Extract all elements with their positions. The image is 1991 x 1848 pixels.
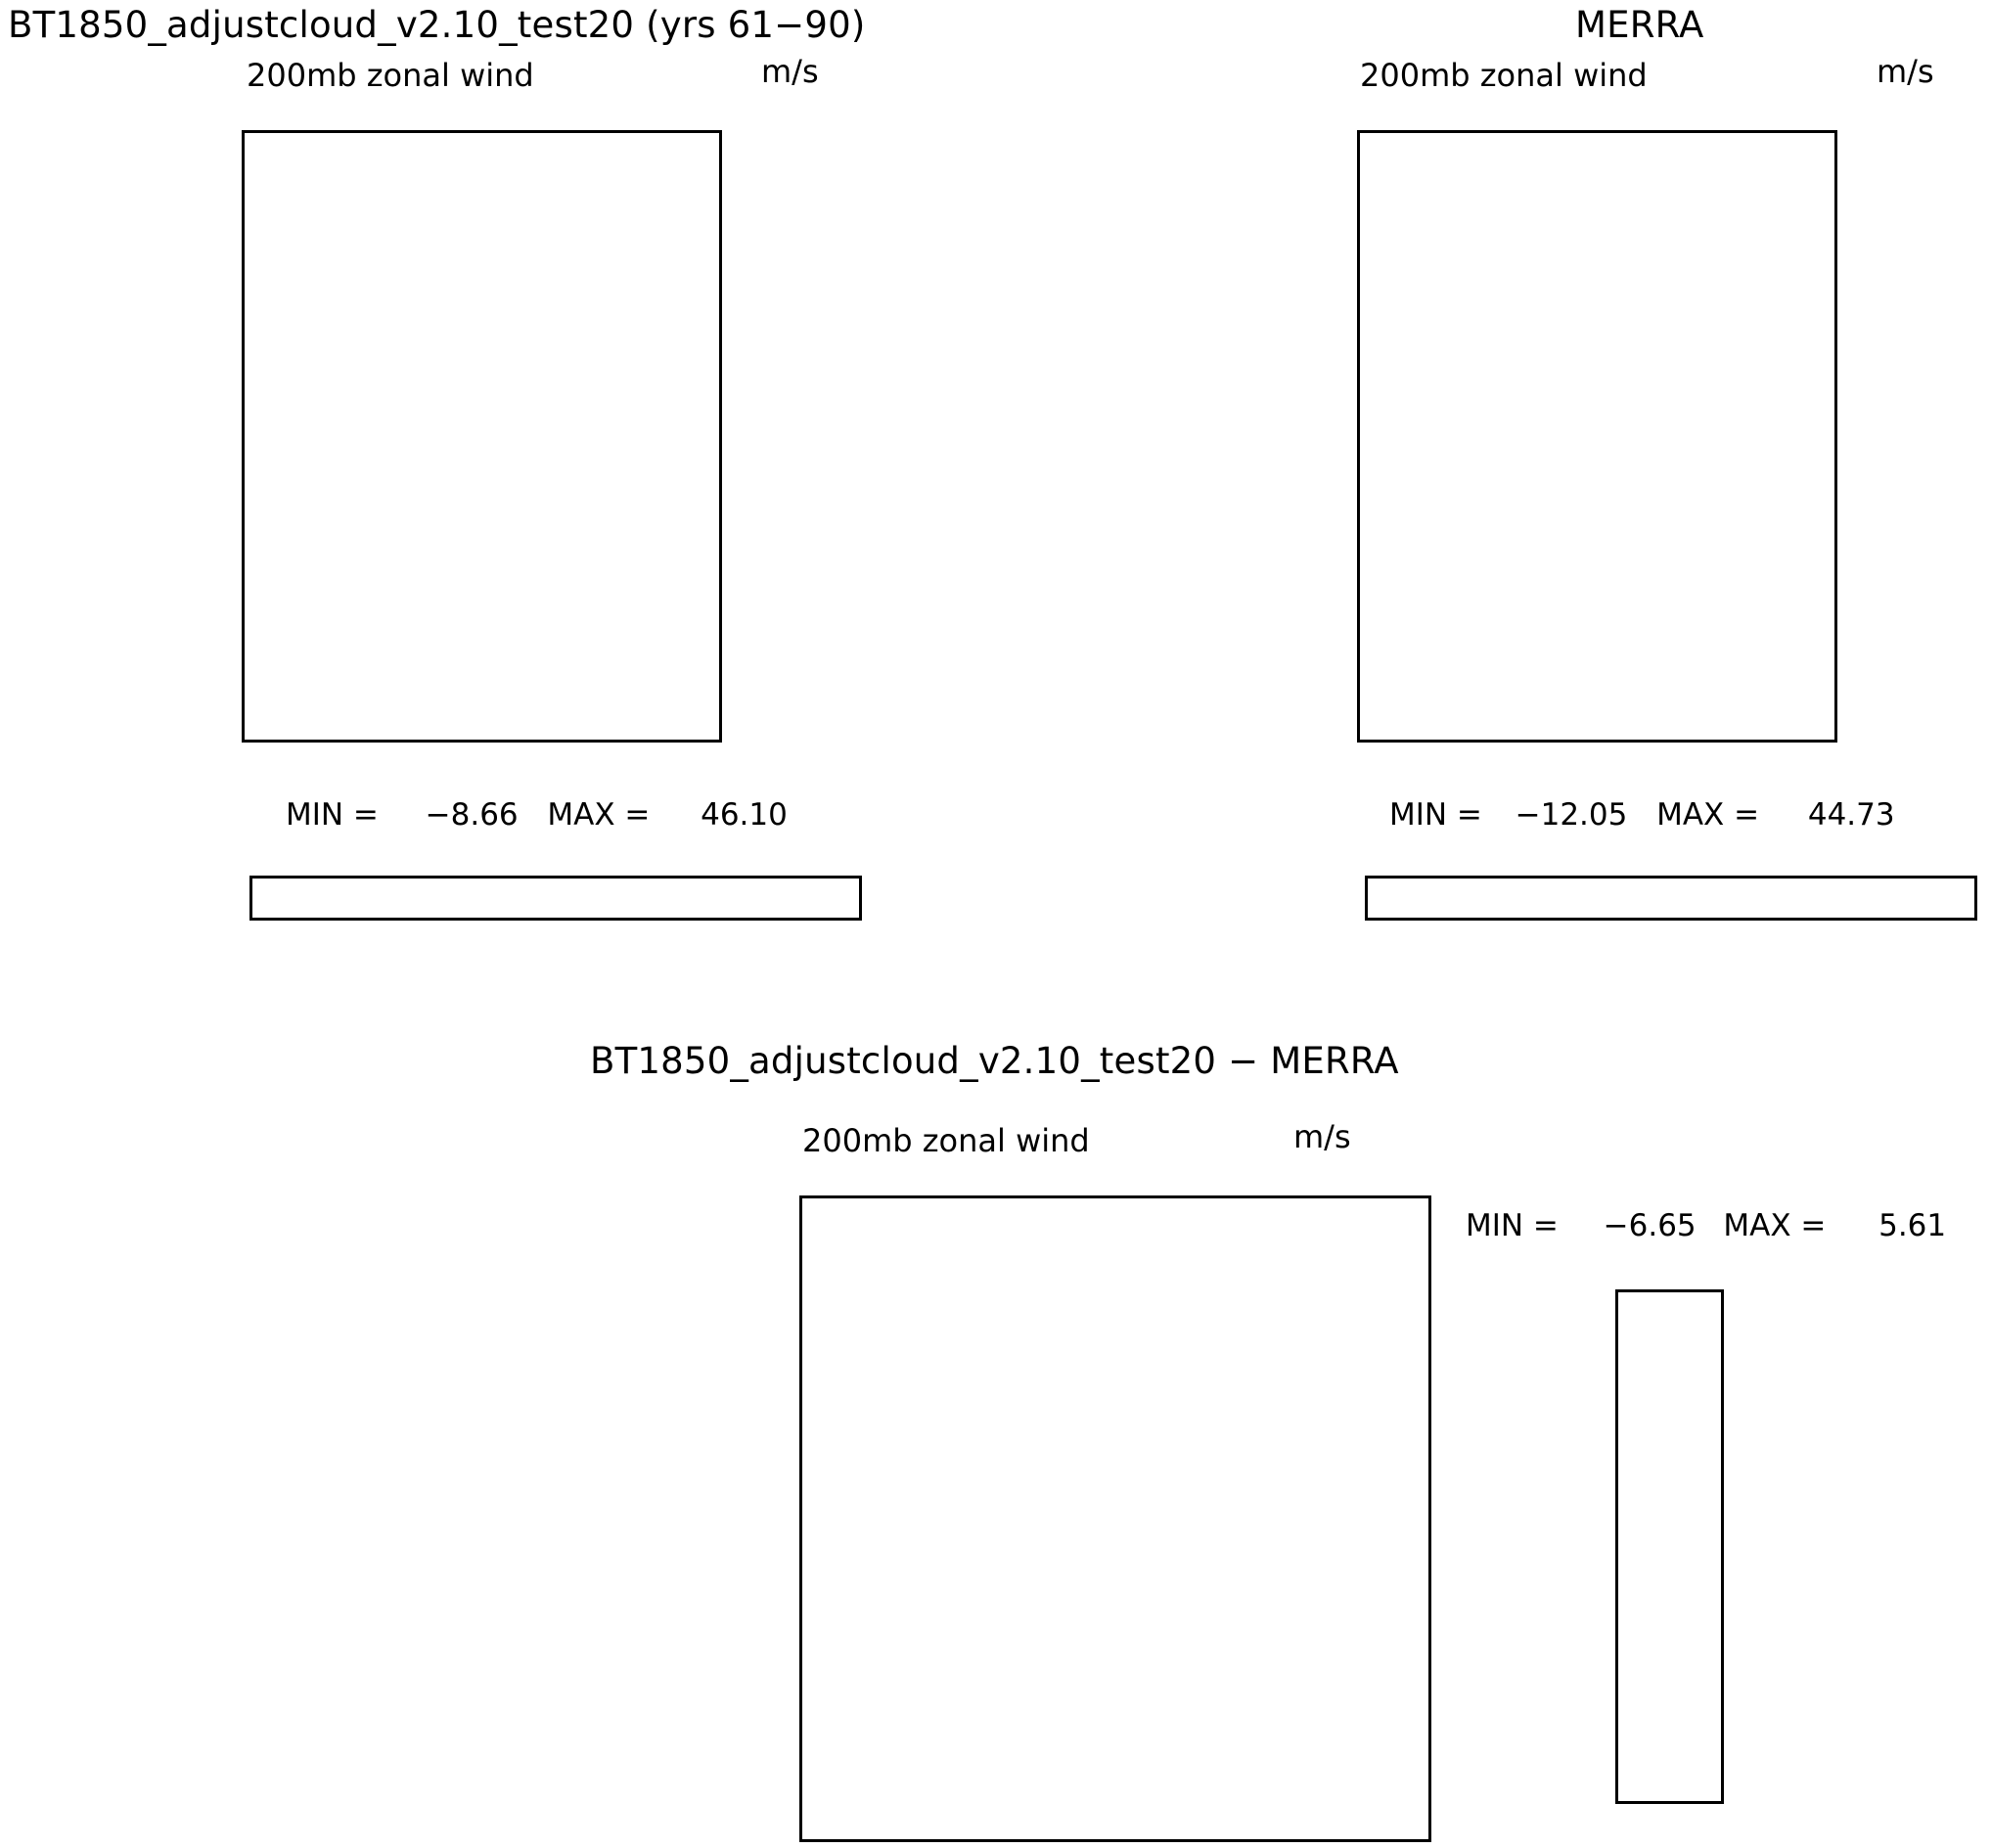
difference-max-label: MAX = [1723,1208,1826,1243]
top-right-contour-plot [1357,130,1837,743]
top-left-colorbar[interactable] [249,876,862,921]
difference-min-label: MIN = [1466,1208,1559,1243]
top-left-max-label: MAX = [547,797,650,833]
top-right-max-value: 44.73 [1808,797,1895,833]
top-right-colorbar[interactable] [1365,876,1977,921]
top-right-panel-title: MERRA [1575,4,1704,46]
difference-panel-units: m/s [1293,1118,1351,1155]
top-left-panel-title: BT1850_adjustcloud_v2.10_test20 (yrs 61−… [8,4,865,46]
difference-colorbar[interactable] [1615,1289,1724,1804]
difference-contour-canvas [802,1198,1428,1839]
top-left-contour-canvas [245,133,719,740]
top-right-panel-subtitle: 200mb zonal wind [1360,57,1648,94]
top-left-min-label: MIN = [286,797,379,833]
top-left-min-value: −8.66 [426,797,519,833]
difference-min-value: −6.65 [1604,1208,1697,1243]
top-left-max-value: 46.10 [701,797,788,833]
top-left-panel-units: m/s [761,53,819,90]
top-right-min-value: −12.05 [1516,797,1628,833]
top-right-contour-canvas [1360,133,1834,740]
top-left-minmax: MIN = −8.66 MAX = 46.10 [286,797,788,833]
top-left-panel-subtitle: 200mb zonal wind [247,57,534,94]
difference-panel-title: BT1850_adjustcloud_v2.10_test20 − MERRA [590,1040,1399,1082]
top-right-min-label: MIN = [1389,797,1482,833]
difference-minmax: MIN = −6.65 MAX = 5.61 [1466,1208,1946,1243]
top-right-minmax: MIN = −12.05 MAX = 44.73 [1389,797,1895,833]
difference-contour-plot [799,1195,1431,1842]
top-right-max-label: MAX = [1656,797,1759,833]
top-left-contour-plot [242,130,722,743]
difference-max-value: 5.61 [1878,1208,1946,1243]
difference-panel-subtitle: 200mb zonal wind [802,1122,1090,1159]
top-right-panel-units: m/s [1877,53,1934,90]
